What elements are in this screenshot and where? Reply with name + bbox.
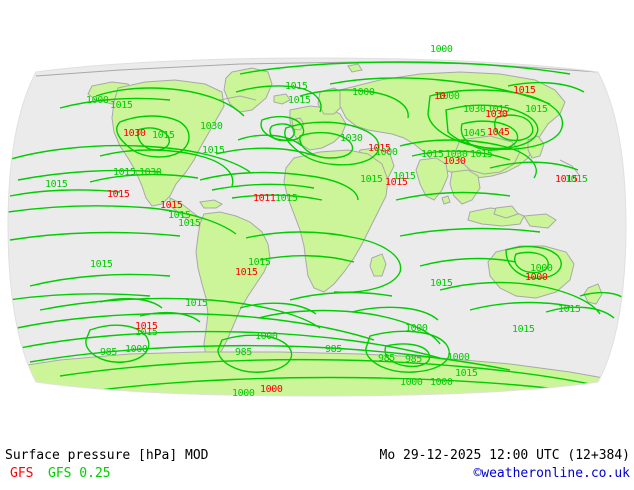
footer-row-secondary: GFS GFS 0.25 ©weatheronline.co.uk: [0, 466, 634, 486]
map-footer: Surface pressure [hPa] MOD Mo 29-12-2025…: [0, 420, 634, 490]
model-label-gfs: GFS: [10, 466, 33, 482]
weather-map-panel: 1000101510301015103010151015103010151015…: [0, 0, 634, 420]
variable-title: Surface pressure [hPa] MOD: [5, 448, 209, 464]
footer-row-primary: Surface pressure [hPa] MOD Mo 29-12-2025…: [0, 448, 634, 468]
model-label-gfs-resolution: GFS 0.25: [48, 466, 111, 482]
land-sri-lanka: [442, 196, 450, 204]
copyright-notice: ©weatheronline.co.uk: [473, 466, 630, 482]
run-datetime: Mo 29-12-2025 12:00 UTC (12+384): [380, 448, 630, 464]
world-map-svg: [0, 0, 634, 420]
